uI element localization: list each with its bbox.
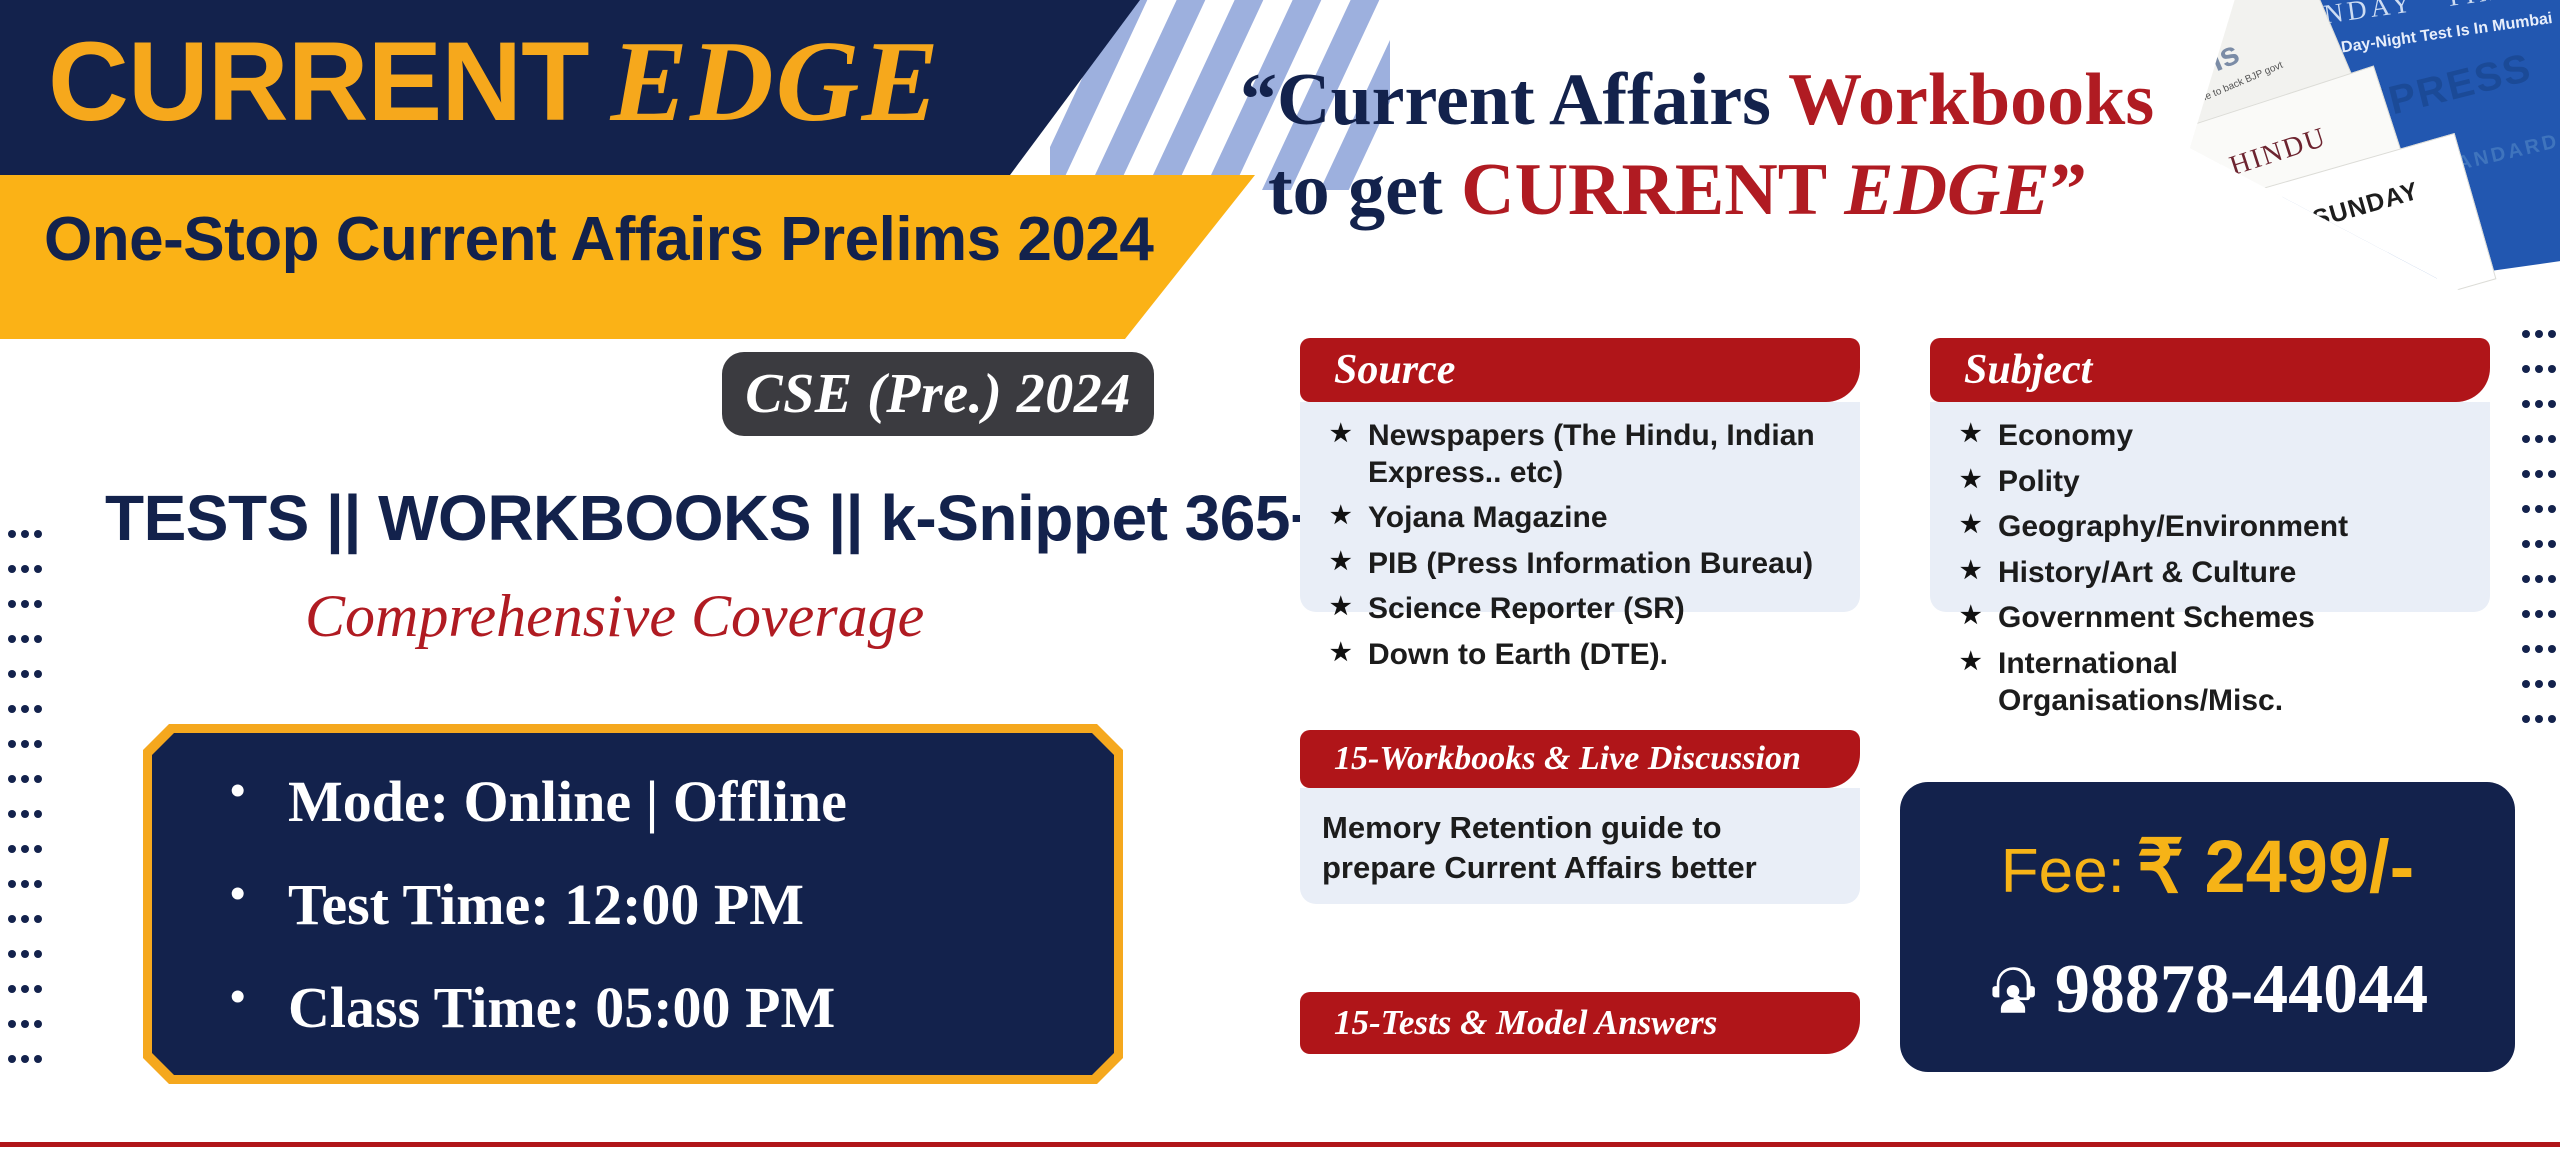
fee-line: Fee:₹ 2499/- (1900, 824, 2515, 910)
subject-panel-body: Economy Polity Geography/Environment His… (1930, 402, 2490, 612)
quote-line2-red-italic: EDGE (1844, 149, 2050, 231)
phone-line[interactable]: 98878-44044 (1900, 950, 2515, 1030)
quote-open-mark: “ (1240, 59, 1277, 141)
subject-panel-header: Subject (1930, 338, 2490, 402)
list-item: Government Schemes (1952, 600, 2468, 637)
source-list: Newspapers (The Hindu, Indian Express.. … (1322, 418, 1838, 674)
headline-quote: “Current Affairs Workbooks to get CURREN… (1240, 55, 2260, 236)
source-panel-body: Newspapers (The Hindu, Indian Express.. … (1300, 402, 1860, 612)
brand-title-main: CURRENT (48, 19, 589, 144)
quote-line1-red: Workbooks (1788, 59, 2154, 141)
list-item: History/Art & Culture (1952, 555, 2468, 592)
phone-number[interactable]: 98878-44044 (2055, 951, 2428, 1028)
subject-panel-title: Subject (1964, 346, 2092, 394)
newspaper-masthead-the-sunday: THE SUNDAY (2251, 177, 2423, 252)
list-item: Mode: Online | Offline (230, 773, 1114, 831)
workbooks-panel-text: Memory Retention guide to prepare Curren… (1322, 808, 1838, 889)
fee-amount: ₹ 2499/- (2137, 825, 2414, 908)
subject-list: Economy Polity Geography/Environment His… (1952, 418, 2468, 719)
source-panel-title: Source (1334, 346, 1455, 394)
source-panel-header: Source (1300, 338, 1860, 402)
offerings-line: TESTS || WORKBOOKS || k-Snippet 365+ (105, 486, 1327, 550)
workbooks-panel: 15-Workbooks & Live Discussion Memory Re… (1300, 730, 1860, 904)
quote-line2-red: CURRENT (1461, 149, 1844, 231)
exam-badge-label: CSE (Pre.) 2024 (745, 362, 1131, 426)
workbooks-panel-title: 15-Workbooks & Live Discussion (1334, 740, 1801, 778)
list-item: Science Reporter (SR) (1322, 591, 1838, 628)
course-details-frame: Mode: Online | Offline Test Time: 12:00 … (143, 724, 1123, 1084)
promotional-banner: SUNDAY TIMES The Real Day-Night Test Is … (0, 0, 2560, 1153)
dot-grid-right-decoration (2522, 330, 2556, 750)
list-item: Geography/Environment (1952, 509, 2468, 546)
brand-tagline: One-Stop Current Affairs Prelims 2024 (44, 209, 1153, 271)
course-details-list: Mode: Online | Offline Test Time: 12:00 … (152, 733, 1114, 1037)
subject-panel: Subject Economy Polity Geography/Environ… (1930, 338, 2490, 612)
exam-badge: CSE (Pre.) 2024 (722, 352, 1154, 436)
coverage-line: Comprehensive Coverage (305, 586, 924, 646)
tests-panel-title: 15-Tests & Model Answers (1334, 1003, 1717, 1043)
brand-title-accent: EDGE (611, 18, 941, 146)
list-item: Yojana Magazine (1322, 500, 1838, 537)
list-item: Economy (1952, 418, 2468, 455)
quote-close-mark: ” (2050, 149, 2087, 231)
fee-contact-box: Fee:₹ 2499/- 98878-44044 (1900, 782, 2515, 1072)
source-panel: Source Newspapers (The Hindu, Indian Exp… (1300, 338, 1860, 612)
brand-header-navy: CURRENTEDGE (0, 0, 1140, 175)
quote-line2: to get CURRENT EDGE” (1268, 145, 2260, 235)
brand-tagline-band: One-Stop Current Affairs Prelims 2024 (0, 175, 1255, 339)
list-item: Test Time: 12:00 PM (230, 876, 1114, 934)
dot-grid-left-decoration (8, 530, 42, 1090)
workbooks-panel-header: 15-Workbooks & Live Discussion (1300, 730, 1860, 788)
tests-panel: 15-Tests & Model Answers (1300, 992, 1860, 1054)
list-item: PIB (Press Information Bureau) (1322, 546, 1838, 583)
brand-title: CURRENTEDGE (48, 24, 941, 140)
bottom-rule-divider (0, 1142, 2560, 1147)
quote-line2-navy: to get (1268, 149, 1461, 231)
list-item: Polity (1952, 464, 2468, 501)
list-item: Down to Earth (DTE). (1322, 637, 1838, 674)
course-details-box: Mode: Online | Offline Test Time: 12:00 … (152, 733, 1114, 1075)
list-item: Class Time: 05:00 PM (230, 979, 1114, 1037)
headset-support-icon (1987, 964, 2039, 1016)
workbooks-panel-body: Memory Retention guide to prepare Curren… (1300, 788, 1860, 904)
list-item: Newspapers (The Hindu, Indian Express.. … (1322, 418, 1838, 491)
list-item: International Organisations/Misc. (1952, 646, 2468, 719)
fee-label: Fee: (2001, 837, 2125, 906)
quote-line1-navy: Current Affairs (1277, 59, 1788, 141)
tests-panel-header: 15-Tests & Model Answers (1300, 992, 1860, 1054)
